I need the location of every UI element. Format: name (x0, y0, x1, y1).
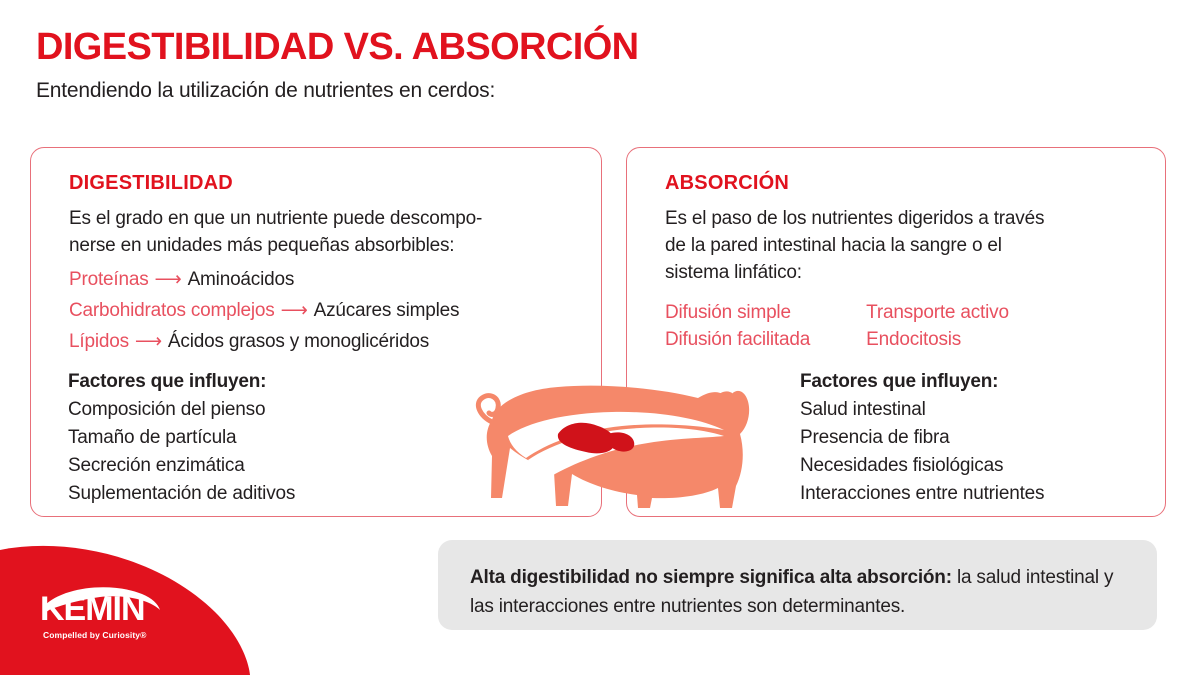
mechanism-column-1: Difusión simple Difusión facilitada (665, 299, 810, 353)
factor-item: Presencia de fibra (800, 424, 1044, 452)
absorption-mechanism-list: Difusión simple Difusión facilitada Tran… (665, 299, 1009, 353)
key-takeaway-callout: Alta digestibilidad no siempre significa… (438, 540, 1157, 630)
page-subtitle: Entendiendo la utilización de nutrientes… (36, 79, 495, 103)
absorption-definition: Es el paso de los nutrientes digeridos a… (665, 205, 1044, 286)
absorption-card-title: ABSORCIÓN (665, 172, 789, 195)
factor-item: Necesidades fisiológicas (800, 452, 1044, 480)
conversion-row: Lípidos⟶Ácidos grasos y monoglicéridos (69, 326, 459, 357)
factor-item: Composición del pienso (68, 396, 295, 424)
conversion-source: Carbohidratos complejos (69, 300, 275, 321)
conversion-source: Lípidos (69, 331, 129, 352)
digestibility-factors: Factores que influyen: Composición del p… (68, 368, 295, 508)
factor-item: Interacciones entre nutrientes (800, 480, 1044, 508)
digestibility-conversion-list: Proteínas⟶Aminoácidos Carbohidratos comp… (69, 264, 459, 357)
mechanism-item: Difusión facilitada (665, 326, 810, 353)
digestibility-card-title: DIGESTIBILIDAD (69, 172, 233, 195)
mechanism-item: Endocitosis (866, 326, 1009, 353)
mechanism-item: Transporte activo (866, 299, 1009, 326)
callout-bold-lead: Alta digestibilidad no siempre significa… (470, 567, 952, 588)
factor-item: Salud intestinal (800, 396, 1044, 424)
pig-icon (462, 368, 762, 518)
conversion-source: Proteínas (69, 269, 149, 290)
factor-item: Suplementación de aditivos (68, 480, 295, 508)
infographic-canvas: DIGESTIBILIDAD VS. ABSORCIÓN Entendiendo… (0, 0, 1200, 675)
arrow-right-icon: ⟶ (149, 269, 188, 290)
absorption-factors: Factores que influyen: Salud intestinal … (800, 368, 1044, 508)
kemin-swoosh-icon (38, 584, 168, 618)
kemin-logo: KEMIN Compelled by Curiosity® (0, 540, 250, 675)
factor-item: Tamaño de partícula (68, 424, 295, 452)
kemin-tagline: Compelled by Curiosity® (43, 630, 147, 640)
callout-text: Alta digestibilidad no siempre significa… (470, 563, 1129, 621)
arrow-right-icon: ⟶ (275, 300, 314, 321)
conversion-row: Proteínas⟶Aminoácidos (69, 264, 459, 295)
conversion-result: Aminoácidos (188, 269, 295, 290)
conversion-row: Carbohidratos complejos⟶Azúcares simples (69, 295, 459, 326)
page-title: DIGESTIBILIDAD VS. ABSORCIÓN (36, 26, 639, 69)
arrow-right-icon: ⟶ (129, 331, 168, 352)
digestibility-definition: Es el grado en que un nutriente puede de… (69, 205, 482, 259)
factor-item: Secreción enzimática (68, 452, 295, 480)
conversion-result: Azúcares simples (314, 300, 460, 321)
conversion-result: Ácidos grasos y monoglicéridos (168, 331, 429, 352)
factors-heading: Factores que influyen: (68, 368, 295, 396)
factors-heading: Factores que influyen: (800, 368, 1044, 396)
mechanism-column-2: Transporte activo Endocitosis (866, 299, 1009, 353)
mechanism-item: Difusión simple (665, 299, 810, 326)
